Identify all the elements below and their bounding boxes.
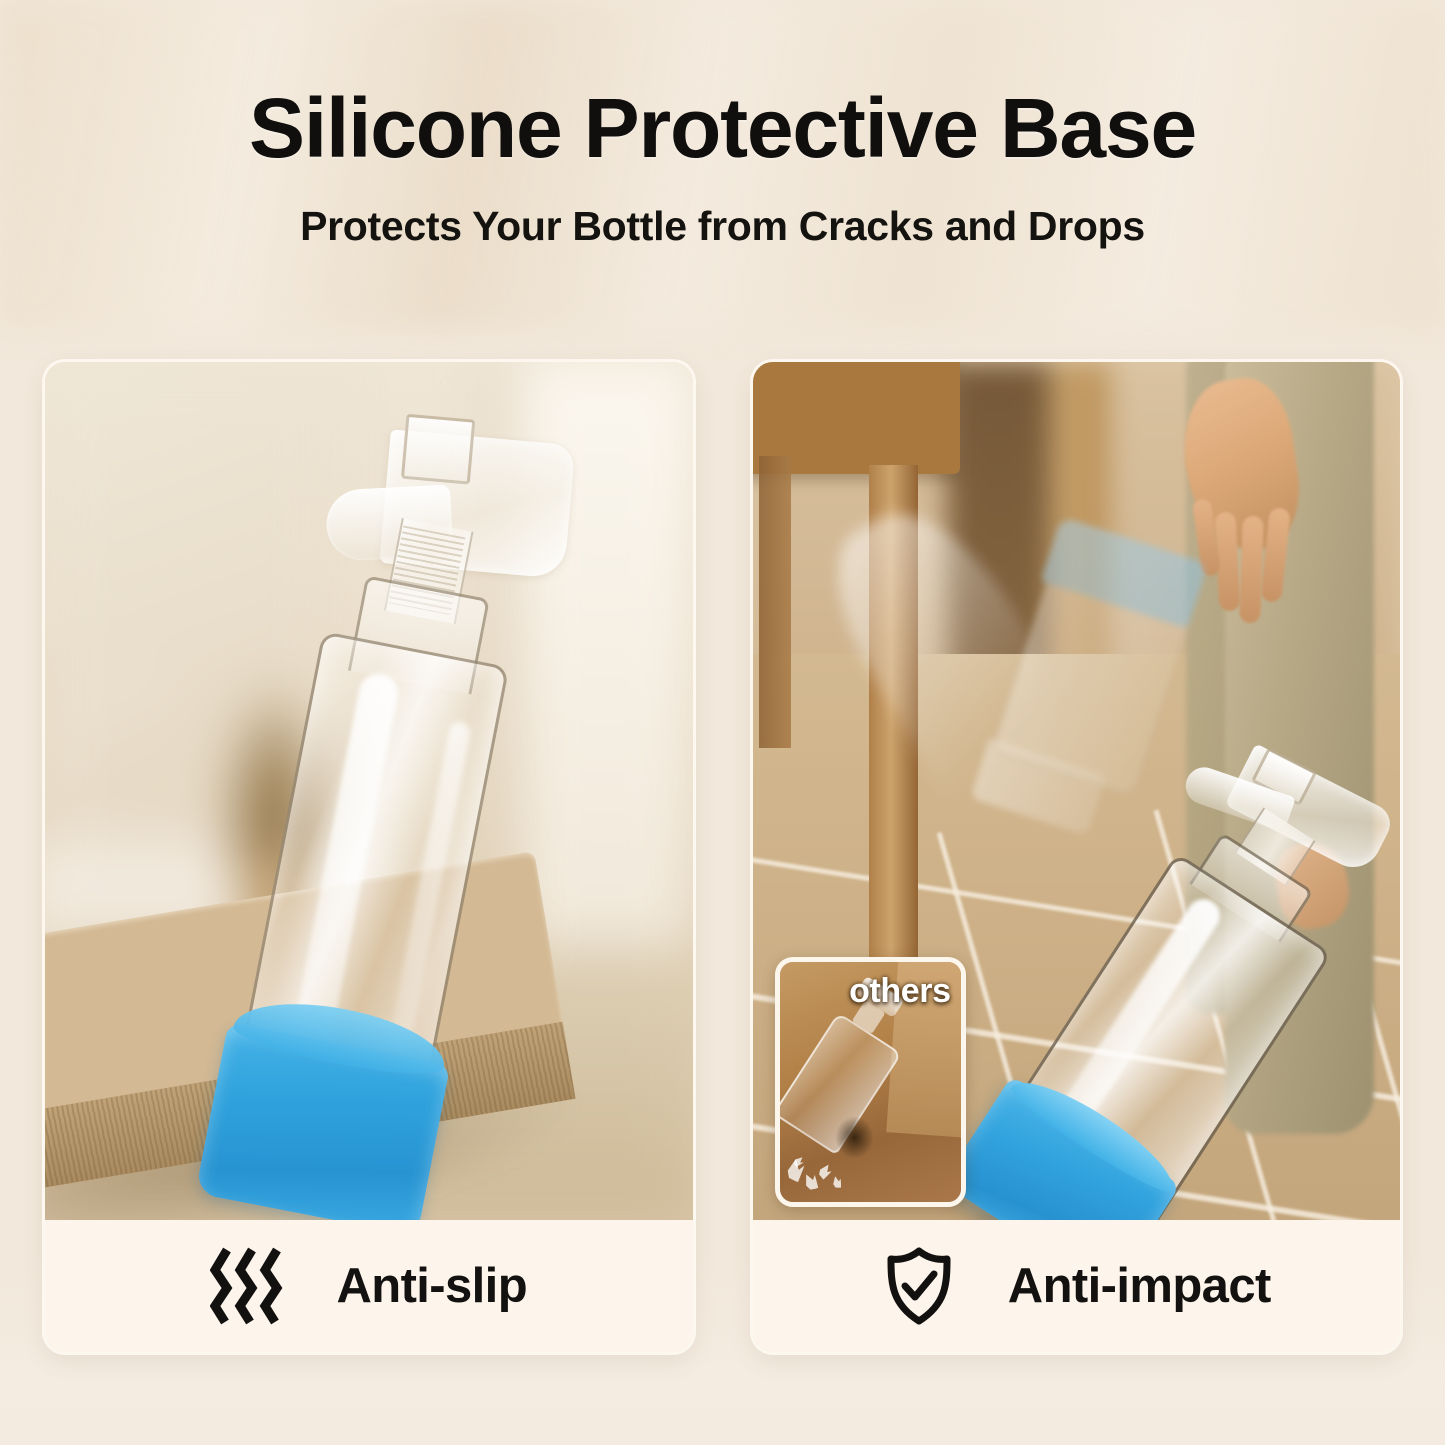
caption-anti-impact: Anti-impact: [753, 1220, 1401, 1352]
page-title: Silicone Protective Base: [0, 0, 1445, 172]
glass-shard: [802, 1171, 820, 1192]
glass-shard: [832, 1176, 842, 1190]
glass-shards: [784, 1130, 878, 1192]
photo-anti-impact: others: [753, 362, 1401, 1220]
header: Silicone Protective Base Protects Your B…: [0, 0, 1445, 249]
feature-cards: Anti-slip: [45, 362, 1400, 1352]
feature-card-anti-slip: Anti-slip: [45, 362, 693, 1352]
page-subtitle: Protects Your Bottle from Cracks and Dro…: [0, 172, 1445, 249]
inset-label: others: [849, 972, 951, 1011]
others-comparison-inset: others: [775, 957, 966, 1207]
caption-anti-slip: Anti-slip: [45, 1220, 693, 1352]
kitchen-scene: [45, 362, 693, 1220]
photo-anti-slip: [45, 362, 693, 1220]
product-feature-page: Silicone Protective Base Protects Your B…: [0, 0, 1445, 1445]
shield-check-icon: [882, 1246, 956, 1326]
caption-label: Anti-slip: [336, 1258, 527, 1314]
spray-nozzle: [401, 414, 475, 485]
room-scene: others: [753, 362, 1401, 1220]
table-leg-back: [759, 456, 791, 748]
feature-card-anti-impact: others Anti-impact: [753, 362, 1401, 1352]
glass-shard: [816, 1162, 833, 1180]
zigzag-waves-icon: [210, 1246, 284, 1326]
caption-label: Anti-impact: [1008, 1258, 1271, 1314]
